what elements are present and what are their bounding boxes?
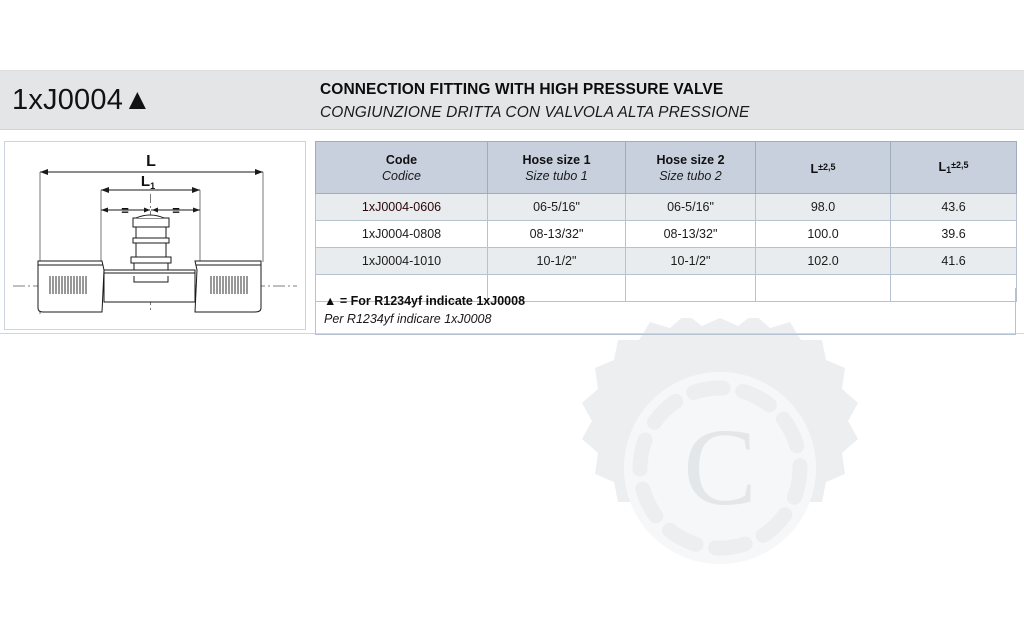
- specification-table: Code Codice Hose size 1 Size tubo 1 Hose…: [315, 141, 1017, 302]
- column-header-hose-size-1: Hose size 1 Size tubo 1: [488, 142, 626, 194]
- fitting-diagram-svg: L L1 = =: [5, 142, 305, 329]
- footnote-block: ▲ = For R1234yf indicate 1xJ0008 Per R12…: [315, 288, 1016, 335]
- cell-l: 102.0: [756, 248, 891, 275]
- column-header-hose-size-2: Hose size 2 Size tubo 2: [626, 142, 756, 194]
- cell-l: 100.0: [756, 221, 891, 248]
- cell-hose1: 10-1/2": [488, 248, 626, 275]
- page-title-it: CONGIUNZIONE DRITTA CON VALVOLA ALTA PRE…: [320, 102, 750, 123]
- column-header-code: Code Codice: [316, 142, 488, 194]
- table-header-row: Code Codice Hose size 1 Size tubo 1 Hose…: [316, 142, 1017, 194]
- cell-l1: 39.6: [891, 221, 1017, 248]
- table-row[interactable]: 1xJ0004-1010 10-1/2" 10-1/2" 102.0 41.6: [316, 248, 1017, 275]
- table-row[interactable]: 1xJ0004-0606 06-5/16" 06-5/16" 98.0 43.6: [316, 194, 1017, 221]
- cell-code[interactable]: 1xJ0004-1010: [316, 248, 488, 275]
- gear-logo-watermark: C: [570, 318, 870, 618]
- dimension-label-L1: L1: [141, 173, 155, 191]
- column-header-l: L±2,5: [756, 142, 891, 194]
- column-header-l1: L1±2,5: [891, 142, 1017, 194]
- cell-hose2: 10-1/2": [626, 248, 756, 275]
- footnote-it: Per R1234yf indicare 1xJ0008: [324, 311, 1007, 328]
- table-row[interactable]: 1xJ0004-0808 08-13/32" 08-13/32" 100.0 3…: [316, 221, 1017, 248]
- cell-hose2: 06-5/16": [626, 194, 756, 221]
- title-block: CONNECTION FITTING WITH HIGH PRESSURE VA…: [320, 79, 750, 123]
- cell-hose2: 08-13/32": [626, 221, 756, 248]
- cell-hose1: 08-13/32": [488, 221, 626, 248]
- cell-l: 98.0: [756, 194, 891, 221]
- footnote-en: ▲ = For R1234yf indicate 1xJ0008: [324, 293, 1007, 310]
- technical-drawing-panel: L L1 = =: [4, 141, 306, 330]
- cell-l1: 41.6: [891, 248, 1017, 275]
- cell-hose1: 06-5/16": [488, 194, 626, 221]
- cell-code[interactable]: 1xJ0004-0808: [316, 221, 488, 248]
- cell-l1: 43.6: [891, 194, 1017, 221]
- page-title-en: CONNECTION FITTING WITH HIGH PRESSURE VA…: [320, 79, 750, 100]
- dimension-label-equal-right: =: [172, 203, 180, 218]
- page-code: 1xJ0004▲: [12, 83, 152, 117]
- dimension-label-equal-left: =: [121, 203, 129, 218]
- cell-code[interactable]: 1xJ0004-0606: [316, 194, 488, 221]
- page-header-band: 1xJ0004▲ CONNECTION FITTING WITH HIGH PR…: [0, 70, 1024, 130]
- svg-text:C: C: [683, 406, 756, 528]
- dimension-label-L: L: [146, 153, 156, 170]
